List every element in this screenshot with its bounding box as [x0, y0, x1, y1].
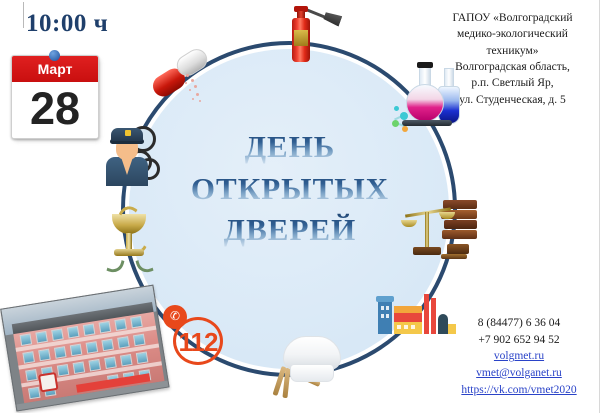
law-book: [442, 230, 477, 239]
granule: [185, 82, 187, 84]
scales-pan-left: [401, 220, 417, 227]
event-time: 10:00 ч: [26, 10, 108, 38]
granule: [199, 100, 201, 102]
contact-block: 8 (84477) 6 36 04 +7 902 652 94 52 volgm…: [440, 315, 598, 398]
building-window: [88, 359, 101, 372]
extinguisher-hose: [305, 8, 327, 19]
factory-window: [404, 325, 408, 329]
contact-website-link[interactable]: volgmet.ru: [440, 348, 598, 365]
left-edge-artifact: [23, 2, 24, 28]
granule: [194, 85, 197, 88]
flask-stand: [402, 120, 452, 126]
flask-pink: [406, 84, 444, 122]
cup-stem: [126, 233, 132, 250]
building-window: [70, 344, 83, 357]
building-window: [73, 361, 86, 374]
extinguisher-nozzle: [323, 10, 343, 26]
building-window: [99, 321, 112, 334]
org-line-3: техникум»: [430, 43, 595, 59]
factory-shed: [448, 324, 456, 334]
calendar-icon: Март 28: [11, 55, 97, 139]
building-window: [38, 349, 51, 362]
scales-base: [413, 247, 441, 255]
factory-window: [381, 314, 384, 318]
factory-window: [386, 314, 389, 318]
building-window: [22, 351, 35, 364]
gavel-block: [441, 254, 467, 259]
calendar-pin-icon: [49, 50, 60, 61]
building-window: [28, 387, 41, 400]
law-scales-books-icon: [395, 198, 479, 274]
building-window: [130, 316, 143, 329]
factory-tower-top: [376, 296, 394, 302]
building-window: [114, 318, 127, 331]
contact-email-link[interactable]: vmet@volganet.ru: [440, 365, 598, 382]
building-window: [35, 331, 48, 344]
org-line-1: ГАПОУ «Волгоградский: [430, 10, 595, 26]
capsule-pill-icon: [152, 48, 214, 104]
police-officer-icon: [100, 124, 156, 186]
title-line-2: ОТКРЫТЫХ: [150, 168, 430, 210]
building-window: [117, 336, 130, 349]
factory-window: [381, 306, 384, 310]
building-window: [133, 334, 146, 347]
building-window: [136, 351, 149, 364]
granule: [191, 79, 194, 82]
org-line-2: медико-экологический: [430, 26, 595, 42]
factory-window: [386, 306, 389, 310]
building-window: [51, 328, 64, 341]
factory-chimney: [431, 298, 436, 334]
officer-cap-badge: [125, 130, 131, 136]
granule: [196, 93, 199, 96]
contact-vk-link[interactable]: https://vk.com/vmet2020: [440, 382, 598, 399]
title-line-1: ДЕНЬ: [150, 126, 430, 168]
contact-phone-2: +7 902 652 94 52: [440, 332, 598, 349]
building-window: [104, 356, 117, 369]
molecule-atom: [400, 112, 408, 120]
granule: [186, 74, 189, 77]
building-window: [25, 369, 38, 382]
granule: [189, 89, 191, 91]
building-window: [54, 346, 67, 359]
factory-tank: [438, 314, 448, 334]
building-window: [20, 333, 33, 346]
building-window: [120, 354, 133, 367]
calendar-body: Март 28: [11, 55, 99, 139]
fire-extinguisher-icon: [288, 2, 314, 64]
calendar-day: 28: [12, 82, 98, 138]
molecule-atom: [392, 120, 399, 127]
emergency-112-icon: 112 ✆: [163, 305, 227, 367]
granule: [192, 98, 194, 100]
poster-canvas: ДЕНЬ ОТКРЫТЫХ ДВЕРЕЙ 10:00 ч Март 28 ГАП…: [0, 0, 600, 413]
flask-stopper: [417, 62, 433, 68]
building-window: [83, 323, 96, 336]
factory-roof: [394, 306, 422, 313]
extinguisher-label: [294, 30, 308, 46]
molecule-atom: [394, 106, 399, 111]
factory-icon: [378, 292, 456, 342]
cup-foot: [114, 249, 144, 256]
hygieia-bowl-icon: [92, 200, 164, 280]
gavel-head: [447, 244, 469, 254]
factory-chimney: [424, 294, 429, 334]
phone-icon: ✆: [169, 310, 181, 323]
building-window: [57, 364, 70, 377]
molecule-atom: [402, 126, 408, 132]
building-window: [101, 339, 114, 352]
chemistry-flasks-icon: [392, 62, 464, 140]
chef-hat-band: [290, 364, 334, 382]
flask-blue-neck: [444, 68, 454, 88]
college-building-photo: [0, 285, 171, 413]
emergency-number: 112: [173, 327, 223, 358]
page-title: ДЕНЬ ОТКРЫТЫХ ДВЕРЕЙ: [150, 126, 430, 251]
law-book: [444, 220, 477, 229]
photo-frame: [0, 285, 169, 412]
contact-phone-1: 8 (84477) 6 36 04: [440, 315, 598, 332]
scales-post: [425, 212, 429, 248]
building-window: [86, 341, 99, 354]
factory-window: [411, 325, 415, 329]
building-emblem: [38, 372, 59, 393]
chef-hat-icon: [277, 336, 347, 402]
factory-window: [397, 325, 401, 329]
title-line-3: ДВЕРЕЙ: [150, 209, 430, 251]
building-window: [67, 326, 80, 339]
